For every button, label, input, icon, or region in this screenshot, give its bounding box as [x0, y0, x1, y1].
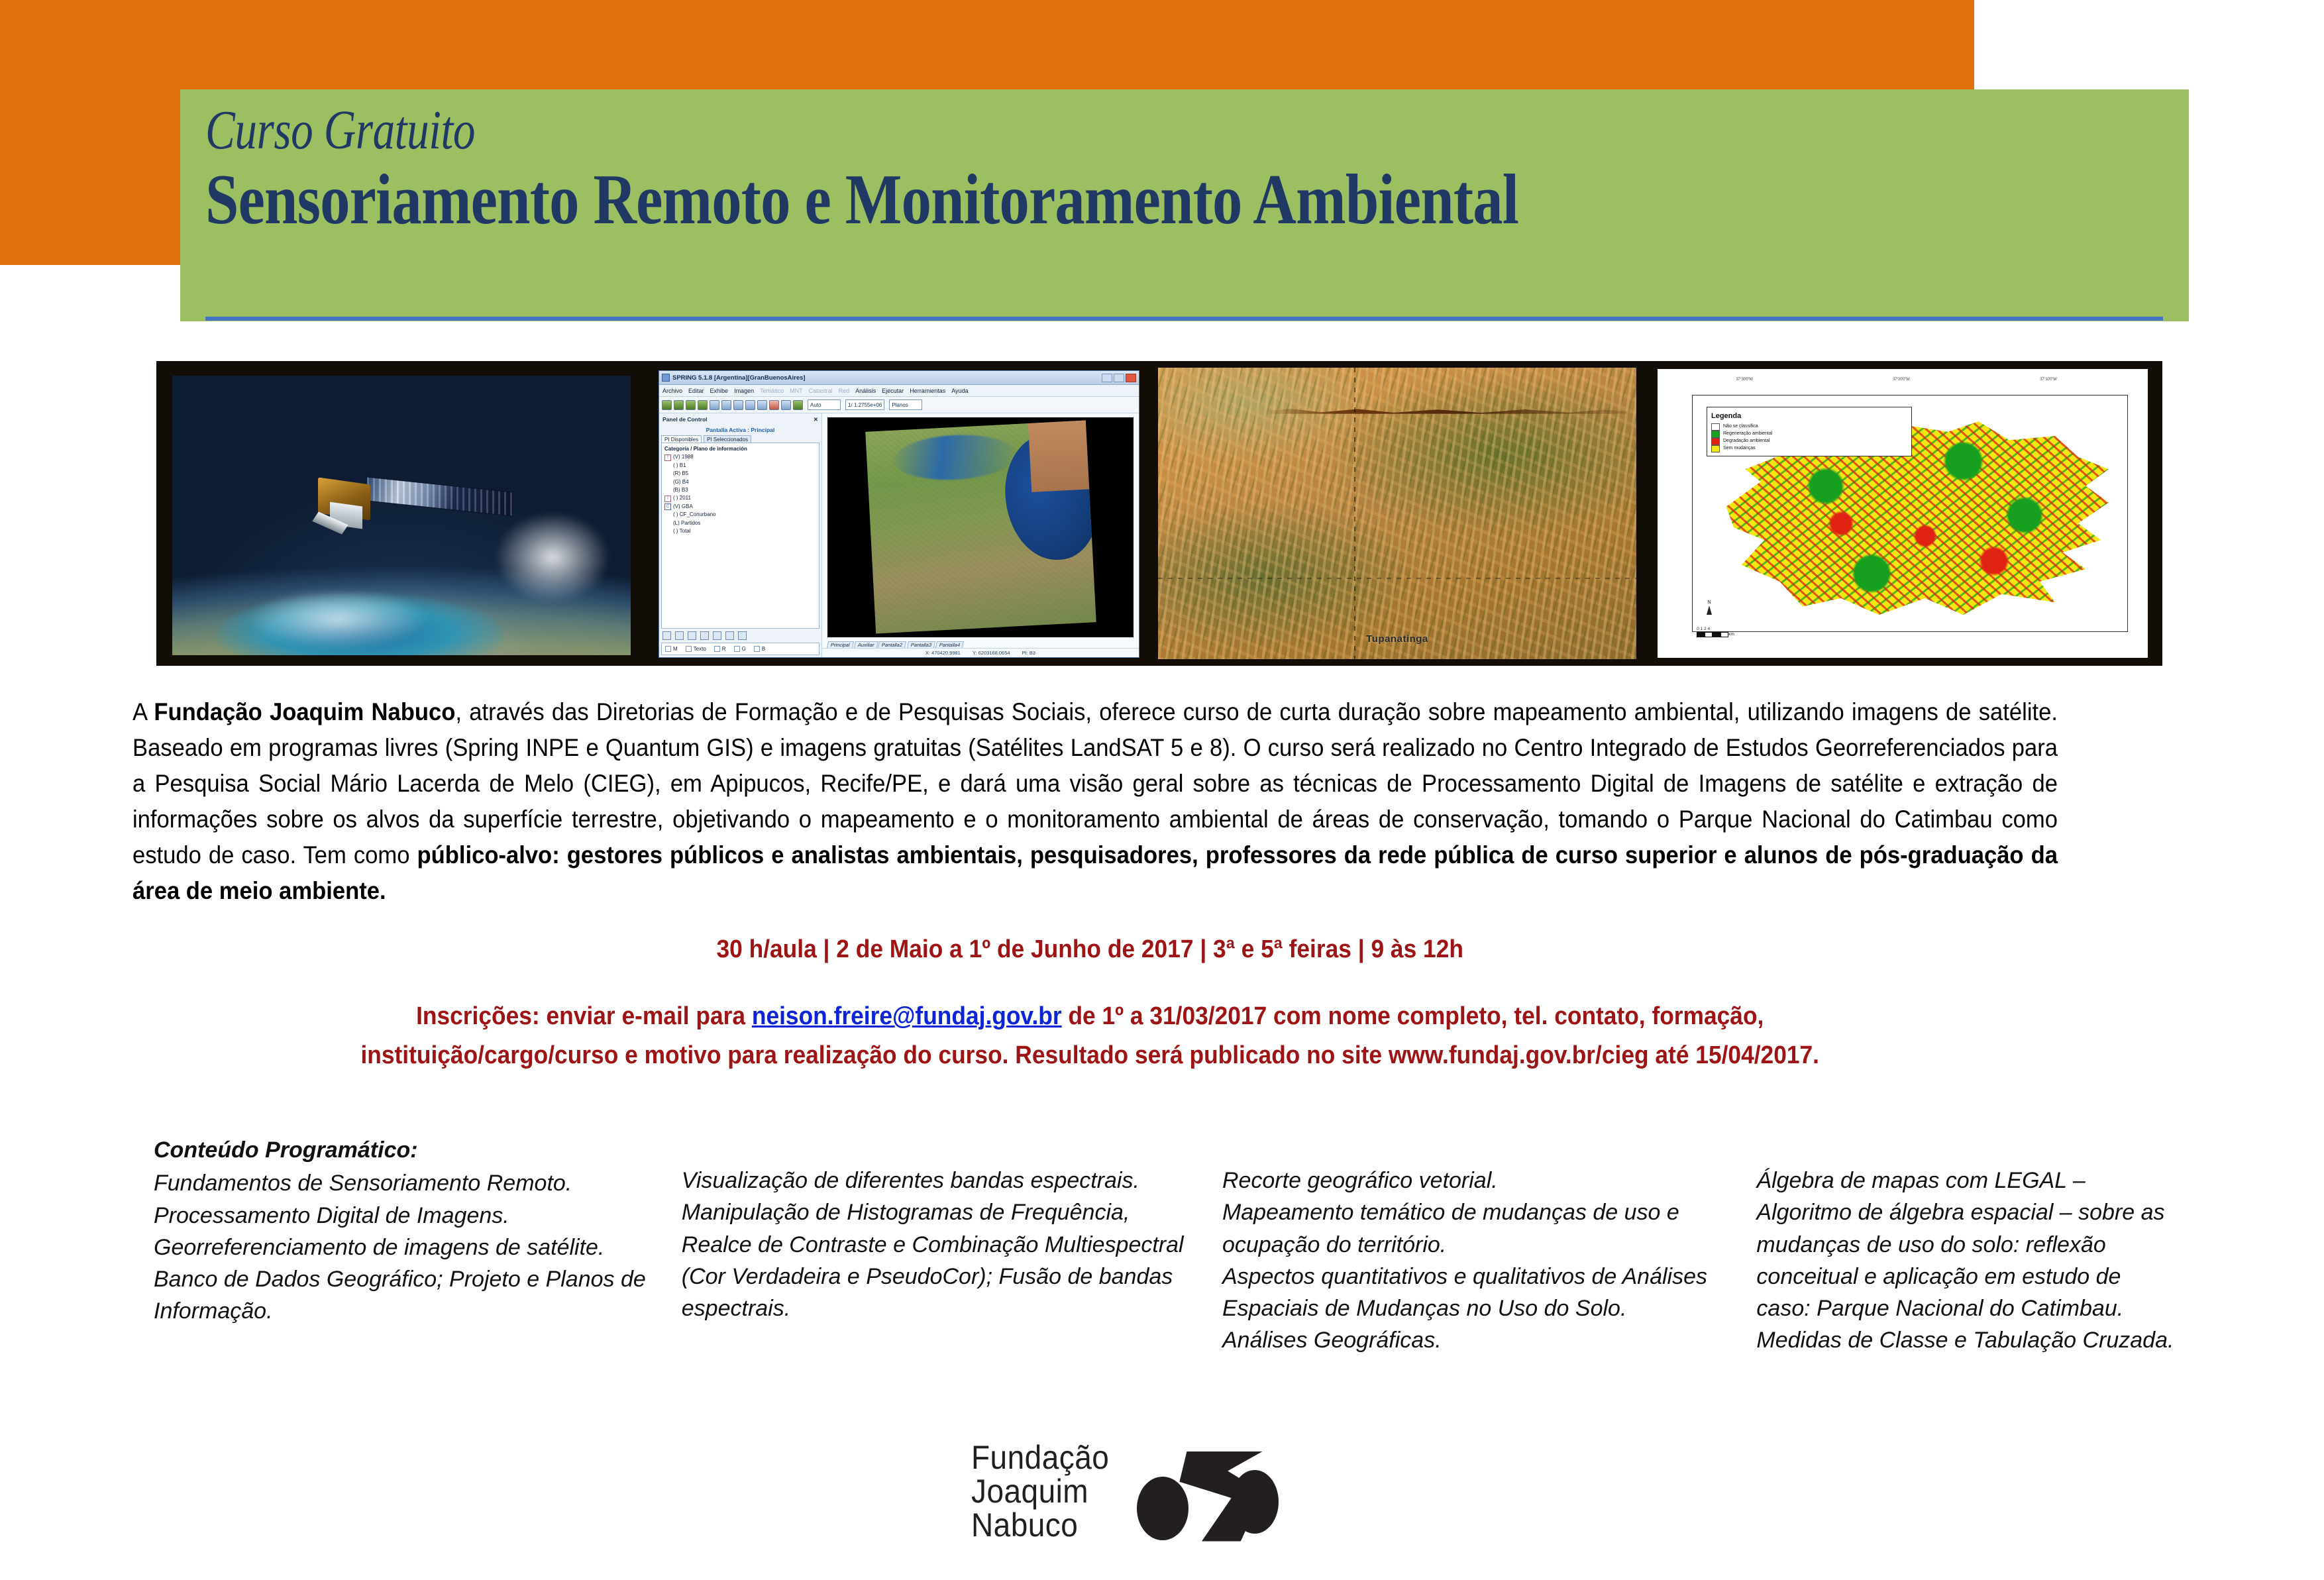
layer-icon[interactable]	[721, 400, 731, 410]
menu-item-analisis[interactable]: Análisis	[855, 388, 876, 394]
tree-row: I(V) 1988	[664, 453, 816, 461]
window-buttons	[1102, 374, 1136, 382]
legend-swatch-degradacao	[1711, 438, 1720, 445]
toolbar[interactable]: Auto 1/ 1.2755e+06 Planos	[659, 397, 1139, 413]
enroll-middle: de 1º a 31/03/2017 com nome completo, te…	[1062, 1002, 1764, 1030]
header-title-group: Curso Gratuito Sensoriamento Remoto e Mo…	[205, 103, 2166, 315]
menu-item-exhibe[interactable]: Exhibe	[710, 388, 729, 394]
course-kicker: Curso Gratuito	[205, 103, 1774, 158]
syllabus-item: Georreferenciamento de imagens de satéli…	[154, 1232, 662, 1263]
solar-panel	[366, 476, 513, 517]
new-project-icon[interactable]	[662, 400, 672, 410]
legend-swatch-regeneracao	[1711, 431, 1720, 438]
syllabus-item: Análises Geográficas.	[1222, 1324, 1736, 1356]
info-icon[interactable]	[745, 400, 755, 410]
legend-swatch-nao-classifica	[1711, 423, 1720, 431]
legend-label: Regeneração ambiental	[1723, 431, 1772, 438]
syllabus-item: Fundamentos de Sensoriamento Remoto.	[154, 1167, 662, 1199]
menu-item-catastral: Catastral	[809, 388, 833, 394]
screen-tab-pantalla4[interactable]: Pantalla4	[935, 641, 964, 648]
checkbox-box[interactable]	[714, 646, 720, 652]
satellite-earth-photo	[156, 361, 647, 666]
scale-numbers: 0 1 2 4	[1697, 627, 1710, 631]
checkbox-b[interactable]: B	[754, 646, 765, 652]
status-y: Y: 6203168.0654	[973, 650, 1010, 656]
window-title: SPRING 5.1.8 [Argentina][GranBuenosAires…	[672, 374, 806, 382]
enrollment-block: Inscrições: enviar e-mail para neison.fr…	[132, 997, 2047, 1075]
fundaj-symbol-icon	[1136, 1442, 1280, 1542]
help-icon[interactable]	[738, 631, 747, 640]
menu-item-red: Red	[839, 388, 850, 394]
tree-node-label[interactable]: (V) 1988	[673, 453, 694, 461]
legend-row: Sem mudanças	[1711, 445, 1907, 452]
logo-line-3: Nabuco	[971, 1508, 1109, 1542]
tree-row: I( ) 2011	[664, 494, 816, 502]
legend-row: Não se classifica	[1711, 423, 1907, 431]
tree-child[interactable]: (B) B3	[664, 486, 816, 494]
tree-header: Categoría / Plano de información	[664, 445, 816, 453]
screen-tab-principal[interactable]: Principal	[827, 641, 854, 648]
map-legend: Legenda Não se classifica Regeneração am…	[1707, 407, 1912, 457]
panel-close-icon[interactable]: ✕	[814, 416, 818, 423]
checkbox-r[interactable]: R	[714, 646, 726, 652]
syllabus-item: Visualização de diferentes bandas espect…	[682, 1165, 1202, 1196]
spring-window: SPRING 5.1.8 [Argentina][GranBuenosAires…	[659, 370, 1139, 658]
mode-select[interactable]: Auto	[808, 399, 841, 410]
syllabus-item: Mapeamento temático de mudanças de uso e…	[1222, 1196, 1736, 1261]
status-bar: X: 470420.9981 Y: 6203168.0654 PI: B3	[822, 648, 1139, 657]
cloud-patch-bottom	[246, 588, 429, 650]
checkbox-texto[interactable]: Texto	[686, 646, 706, 652]
app-icon	[662, 374, 670, 382]
lon-tick-right: 37°10'0"W	[2040, 378, 2056, 382]
measure-icon[interactable]	[793, 400, 803, 410]
tree-node-label[interactable]: ( ) 2011	[673, 494, 691, 502]
open-project-icon[interactable]	[674, 400, 684, 410]
syllabus-heading: Conteúdo Programático:	[154, 1134, 662, 1166]
zoom-in-icon[interactable]	[757, 400, 767, 410]
panel-toolbar[interactable]	[661, 629, 819, 643]
cut-icon[interactable]	[688, 631, 696, 640]
panel-title-text: Panel de Control	[662, 416, 708, 423]
scale-bar: 0 1 2 4 km	[1697, 627, 1734, 637]
landsat-composite-render	[865, 421, 1096, 634]
logo-line-1: Fundação	[971, 1441, 1109, 1475]
lon-tick-center: 37°20'0"W	[1893, 378, 1909, 382]
schedule-line: 30 h/aula | 2 de Maio a 1º de Junho de 2…	[132, 935, 2047, 964]
checkbox-label: G	[742, 646, 746, 652]
title-underline-rule	[205, 317, 2163, 321]
north-label: N	[1707, 600, 1711, 605]
checkbox-box[interactable]	[734, 646, 740, 652]
copy-icon[interactable]	[675, 631, 684, 640]
syllabus-item: Processamento Digital de Imagens.	[154, 1200, 662, 1232]
menu-item-mnt: MNT	[790, 388, 803, 394]
list-icon[interactable]	[662, 631, 671, 640]
image-badge-icon: I	[664, 496, 671, 502]
menu-item-ejecutar[interactable]: Ejecutar	[882, 388, 904, 394]
channel-checkboxes[interactable]: M Texto R G B	[661, 643, 819, 655]
map-figure: 37°30'0"W 37°20'0"W 37°10'0"W Legenda Nã…	[1658, 369, 2148, 658]
close-icon[interactable]	[1126, 374, 1136, 382]
page-title: Sensoriamento Remoto e Monitoramento Amb…	[205, 162, 1852, 237]
syllabus-column-2: Visualização de diferentes bandas espect…	[682, 1134, 1222, 1357]
screen-tab-auxiliar[interactable]: Auxiliar	[854, 641, 878, 648]
window-titlebar: SPRING 5.1.8 [Argentina][GranBuenosAires…	[659, 371, 1139, 385]
logo-dot-left	[1137, 1477, 1188, 1540]
terrain-texture	[1158, 368, 1636, 659]
thematic-change-map: 37°30'0"W 37°20'0"W 37°10'0"W Legenda Nã…	[1643, 361, 2162, 666]
landsat-scene-photo: Tupanatinga	[1151, 361, 1643, 666]
scale-field[interactable]: 1/ 1.2755e+06	[845, 399, 884, 410]
course-description-paragraph: A Fundação Joaquim Nabuco, através das D…	[132, 694, 2058, 909]
checkbox-g[interactable]: G	[734, 646, 746, 652]
screen-tab-pantalla3[interactable]: Pantalla3	[906, 641, 935, 648]
legend-label: Sem mudanças	[1723, 445, 1756, 452]
checkbox-label: Texto	[694, 646, 706, 652]
legend-title: Legenda	[1711, 411, 1907, 422]
minimize-icon[interactable]	[1102, 374, 1112, 382]
syllabus-column-4: Álgebra de mapas com LEGAL – Algoritmo d…	[1756, 1134, 2181, 1357]
tree-child[interactable]: ( ) CF_Conurbano	[664, 511, 816, 519]
map-view[interactable]: Principal Auxiliar Pantalla2 Pantalla3 P…	[822, 413, 1139, 657]
edit-icon[interactable]	[713, 631, 721, 640]
enrollment-email-link[interactable]: neison.freire@fundaj.gov.br	[752, 1002, 1062, 1030]
legend-row: Regeneração ambiental	[1711, 431, 1907, 438]
syllabus-item: Aspectos quantitativos e qualitativos de…	[1222, 1261, 1736, 1325]
image-badge-icon: I	[664, 454, 671, 461]
earth-globe-graphic	[172, 376, 631, 655]
aerial-imagery: Tupanatinga	[1158, 368, 1636, 659]
logo-wordmark: Fundação Joaquim Nabuco	[971, 1441, 1109, 1542]
refresh-icon[interactable]	[781, 400, 791, 410]
logo-dot-right	[1231, 1470, 1279, 1534]
lon-tick-left: 37°30'0"W	[1736, 378, 1752, 382]
status-x: X: 470420.9981	[925, 650, 961, 656]
chart-icon[interactable]	[700, 631, 709, 640]
fundaj-logo: Fundação Joaquim Nabuco	[971, 1441, 1280, 1542]
legend-swatch-sem-mudancas	[1711, 445, 1720, 452]
screen-tabs[interactable]: Principal Auxiliar Pantalla2 Pantalla3 P…	[822, 639, 1139, 648]
checkbox-label: M	[673, 646, 678, 652]
tree-child[interactable]: ( ) B1	[664, 462, 816, 470]
map-canvas[interactable]	[827, 417, 1134, 637]
logo-line-2: Joaquim	[971, 1475, 1109, 1508]
checkbox-label: R	[722, 646, 726, 652]
north-arrow: N	[1707, 600, 1712, 615]
tree-child[interactable]: (R) B5	[664, 470, 816, 478]
orange-top-band	[0, 0, 1974, 89]
menu-bar[interactable]: Archivo Editar Exhibe Imagen Temático MN…	[659, 385, 1139, 397]
satellite-graphic	[310, 476, 511, 532]
syllabus-columns: Conteúdo Programático: Fundamentos de Se…	[154, 1134, 2181, 1357]
active-screen-label: Pantalla Activa : Principal	[661, 427, 819, 433]
status-pi: PI: B3	[1022, 650, 1035, 656]
scale-bar-blocks: km	[1697, 632, 1734, 637]
boundary-horizontal-dashed	[1158, 578, 1636, 579]
tree-node-label[interactable]: (V) GBA	[673, 503, 693, 511]
properties-icon[interactable]	[725, 631, 734, 640]
checkbox-label: B	[762, 646, 765, 652]
syllabus-item: Álgebra de mapas com LEGAL – Algoritmo d…	[1756, 1165, 2181, 1324]
syllabus-column-1: Conteúdo Programático: Fundamentos de Se…	[154, 1134, 682, 1357]
menu-item-imagen[interactable]: Imagen	[734, 388, 754, 394]
table-icon[interactable]	[698, 400, 708, 410]
window-body: Panel de Control ✕ Pantalla Activa : Pri…	[659, 413, 1139, 657]
control-panel: Panel de Control ✕ Pantalla Activa : Pri…	[659, 413, 822, 657]
control-panel-title: Panel de Control ✕	[661, 415, 819, 424]
syllabus-item: Medidas de Classe e Tabulação Cruzada.	[1756, 1324, 2181, 1356]
place-label: Tupanatinga	[1366, 633, 1428, 645]
syllabus-item: Recorte geográfico vetorial.	[1222, 1165, 1736, 1196]
tree-child[interactable]: ( ) Total	[664, 527, 816, 535]
menu-item-editar[interactable]: Editar	[688, 388, 704, 394]
checkbox-m[interactable]: M	[665, 646, 678, 652]
legend-label: Não se classifica	[1723, 423, 1758, 431]
syllabus-column-3: Recorte geográfico vetorial. Mapeamento …	[1222, 1134, 1756, 1357]
syllabus-item: Banco de Dados Geográfico; Projeto e Pla…	[154, 1263, 662, 1328]
image-strip: SPRING 5.1.8 [Argentina][GranBuenosAires…	[156, 361, 2162, 666]
enroll-last-line: instituição/cargo/curso e motivo para re…	[132, 1036, 2047, 1075]
menu-item-herramientas[interactable]: Herramientas	[910, 388, 945, 394]
tree-child[interactable]: (L) Partidos	[664, 519, 816, 527]
north-arrow-icon	[1707, 606, 1712, 615]
menu-item-ayuda[interactable]: Ayuda	[951, 388, 968, 394]
orange-left-band	[0, 0, 180, 265]
legend-label: Degradação ambiental	[1723, 438, 1769, 445]
maximize-icon[interactable]	[1114, 374, 1124, 382]
menu-item-tematico: Temático	[760, 388, 784, 394]
menu-item-archivo[interactable]: Archivo	[662, 388, 682, 394]
cadastral-badge-icon: C	[664, 503, 671, 510]
checkbox-box[interactable]	[754, 646, 760, 652]
boundary-vertical-dashed	[1354, 368, 1355, 659]
pan-icon[interactable]	[733, 400, 743, 410]
save-project-icon[interactable]	[686, 400, 696, 410]
pencil-icon[interactable]	[710, 400, 719, 410]
scale-unit: km	[1728, 632, 1734, 637]
checkbox-box[interactable]	[686, 646, 692, 652]
screen-tab-pantalla2[interactable]: Pantalla2	[878, 641, 906, 648]
syllabus-item: Manipulação de Histogramas de Frequência…	[682, 1196, 1202, 1324]
zoom-out-icon[interactable]	[769, 400, 779, 410]
spring-gis-screenshot: SPRING 5.1.8 [Argentina][GranBuenosAires…	[647, 361, 1151, 666]
layer-tree[interactable]: Categoría / Plano de información I(V) 19…	[661, 443, 819, 629]
enroll-prefix: Inscrições: enviar e-mail para	[416, 1002, 752, 1030]
checkbox-box[interactable]	[665, 646, 671, 652]
tree-row: C(V) GBA	[664, 503, 816, 511]
view-select[interactable]: Planos	[889, 399, 922, 410]
bare-soil-region	[1028, 421, 1089, 492]
legend-row: Degradação ambiental	[1711, 438, 1907, 445]
tree-child[interactable]: (G) B4	[664, 478, 816, 486]
